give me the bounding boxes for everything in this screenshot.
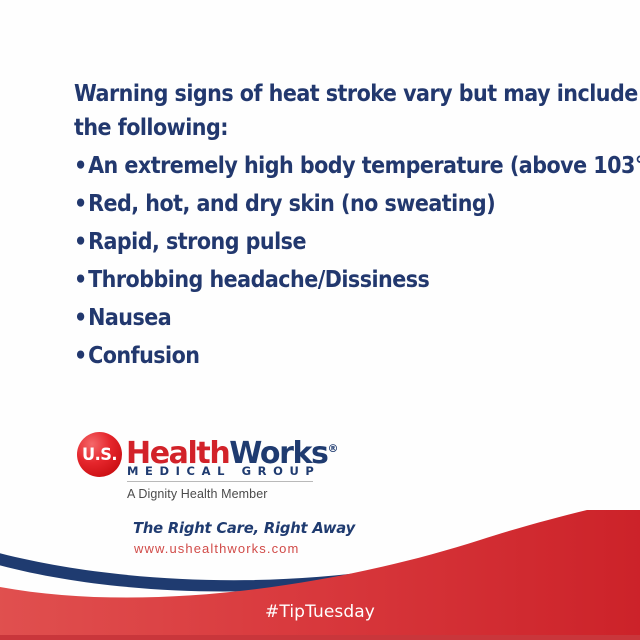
logo-subtitle: MEDICAL GROUP [127, 464, 320, 478]
logo-wordmark-row: U.S. HealthWorks® MEDICAL GROUP A Dignit… [77, 430, 337, 478]
logo-affiliation: A Dignity Health Member [127, 487, 268, 501]
logo-divider [127, 481, 313, 482]
list-item-label: Rapid, strong pulse [88, 227, 306, 255]
headline-line-2: the following: [74, 112, 525, 143]
list-item-label: Throbbing headache/Dissiness [88, 265, 429, 293]
list-item-label: An extremely high body temperature (abov… [88, 151, 640, 179]
registered-trademark-icon: ® [328, 442, 339, 455]
list-item: •Rapid, strong pulse [74, 222, 525, 260]
footer-bottom-strip [0, 635, 640, 640]
us-badge-icon: U.S. [77, 432, 122, 477]
brand-logo: U.S. HealthWorks® MEDICAL GROUP A Dignit… [77, 430, 337, 478]
headline-line-1: Warning signs of heat stroke vary but ma… [74, 78, 525, 109]
list-item: •An extremely high body temperature (abo… [74, 146, 525, 184]
list-item: •Nausea [74, 298, 525, 336]
list-item: •Throbbing headache/Dissiness [74, 260, 525, 298]
footer-hashtag: #TipTuesday [0, 602, 640, 622]
bullet-marker-icon: • [74, 146, 88, 184]
bullet-marker-icon: • [74, 222, 88, 260]
list-item-label: Red, hot, and dry skin (no sweating) [88, 189, 495, 217]
poster-canvas: Warning signs of heat stroke vary but ma… [0, 0, 640, 640]
list-item: •Confusion [74, 336, 525, 374]
bullet-marker-icon: • [74, 298, 88, 336]
us-badge-label: U.S. [78, 432, 121, 477]
list-item: •Red, hot, and dry skin (no sweating) [74, 184, 525, 222]
bullet-marker-icon: • [74, 260, 88, 298]
bullet-marker-icon: • [74, 184, 88, 222]
message-block: Warning signs of heat stroke vary but ma… [74, 78, 586, 374]
list-item-label: Confusion [88, 341, 199, 369]
symptom-list: •An extremely high body temperature (abo… [74, 146, 586, 374]
list-item-label: Nausea [88, 303, 171, 331]
bullet-marker-icon: • [74, 336, 88, 374]
